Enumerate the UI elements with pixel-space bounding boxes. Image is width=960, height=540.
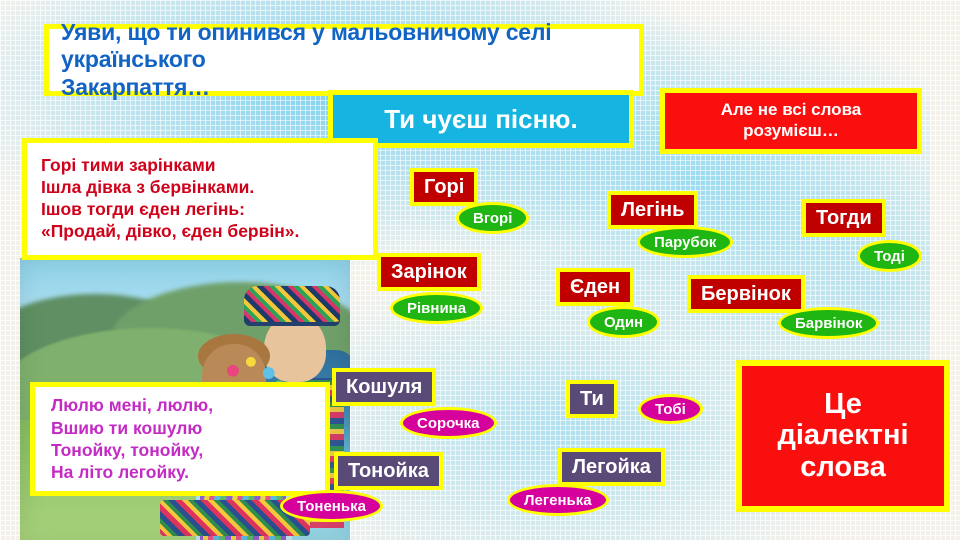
verse2-line-4: На літо легойку. — [51, 461, 317, 483]
verse2-line-1: Люлю мені, люлю, — [51, 394, 317, 416]
dialect-term-tohdy[interactable]: Тогди — [802, 199, 886, 237]
dialect-term-lehin[interactable]: Легінь — [607, 191, 698, 229]
standard-gloss-rivnyna[interactable]: Рівнина — [390, 292, 483, 324]
verse1-line-1: Горі тими зарінками — [41, 155, 365, 177]
standard-gloss-sorochka[interactable]: Сорочка — [400, 407, 497, 439]
standard-gloss-tonenka[interactable]: Тоненька — [280, 490, 383, 522]
dialect-term-zarinok[interactable]: Зарінок — [377, 253, 481, 291]
warning-line-2: розумієш… — [743, 121, 839, 142]
standard-gloss-odyn[interactable]: Один — [587, 306, 660, 338]
verse1-line-2: Ішла дівка з бервінками. — [41, 177, 365, 199]
verse1-line-3: Ішов тогди єден легінь: — [41, 199, 365, 221]
dialect-term-hori[interactable]: Горі — [410, 168, 478, 206]
comprehension-warning-box: Але не всі слова розумієш… — [660, 88, 922, 154]
conclusion-line-1: Це — [824, 389, 862, 420]
conclusion-box: Це діалектні слова — [736, 360, 950, 512]
standard-gloss-todi[interactable]: Тоді — [857, 240, 922, 272]
verse2-line-3: Тонойку, тонойку, — [51, 439, 317, 461]
warning-line-1: Але не всі слова — [721, 100, 862, 121]
dialect-term-lehoika[interactable]: Легойка — [558, 448, 665, 486]
verse2-line-2: Вшию ти кошулю — [51, 417, 317, 439]
standard-gloss-vhori[interactable]: Вгорі — [456, 202, 529, 234]
dialect-term-yeden[interactable]: Єден — [556, 268, 634, 306]
slide-title: Уяви, що ти опинився у мальовничому селі… — [44, 24, 644, 96]
song-prompt-text: Ти чуєш пісню. — [384, 104, 577, 135]
folk-song-verse-one: Горі тими зарінками Ішла дівка з бервінк… — [22, 138, 378, 260]
standard-gloss-lehenka[interactable]: Легенька — [507, 484, 609, 516]
standard-gloss-parubok[interactable]: Парубок — [637, 226, 733, 258]
dialect-term-ty[interactable]: Ти — [566, 380, 618, 418]
conclusion-line-2: діалектні — [777, 420, 908, 451]
dialect-term-koshulia[interactable]: Кошуля — [332, 368, 436, 406]
conclusion-line-3: слова — [800, 452, 885, 483]
folk-song-verse-two: Люлю мені, люлю, Вшию ти кошулю Тонойку,… — [30, 382, 330, 496]
title-line-1: Уяви, що ти опинився у мальовничому селі… — [61, 19, 633, 73]
verse1-line-4: «Продай, дівко, єден бервін». — [41, 221, 365, 243]
slide-canvas: Уяви, що ти опинився у мальовничому селі… — [0, 0, 960, 540]
dialect-term-bervinok[interactable]: Бервінок — [687, 275, 805, 313]
dialect-term-tonoika[interactable]: Тонойка — [334, 452, 443, 490]
standard-gloss-tobi[interactable]: Тобі — [638, 394, 703, 424]
standard-gloss-barvinok[interactable]: Барвінок — [778, 307, 879, 339]
